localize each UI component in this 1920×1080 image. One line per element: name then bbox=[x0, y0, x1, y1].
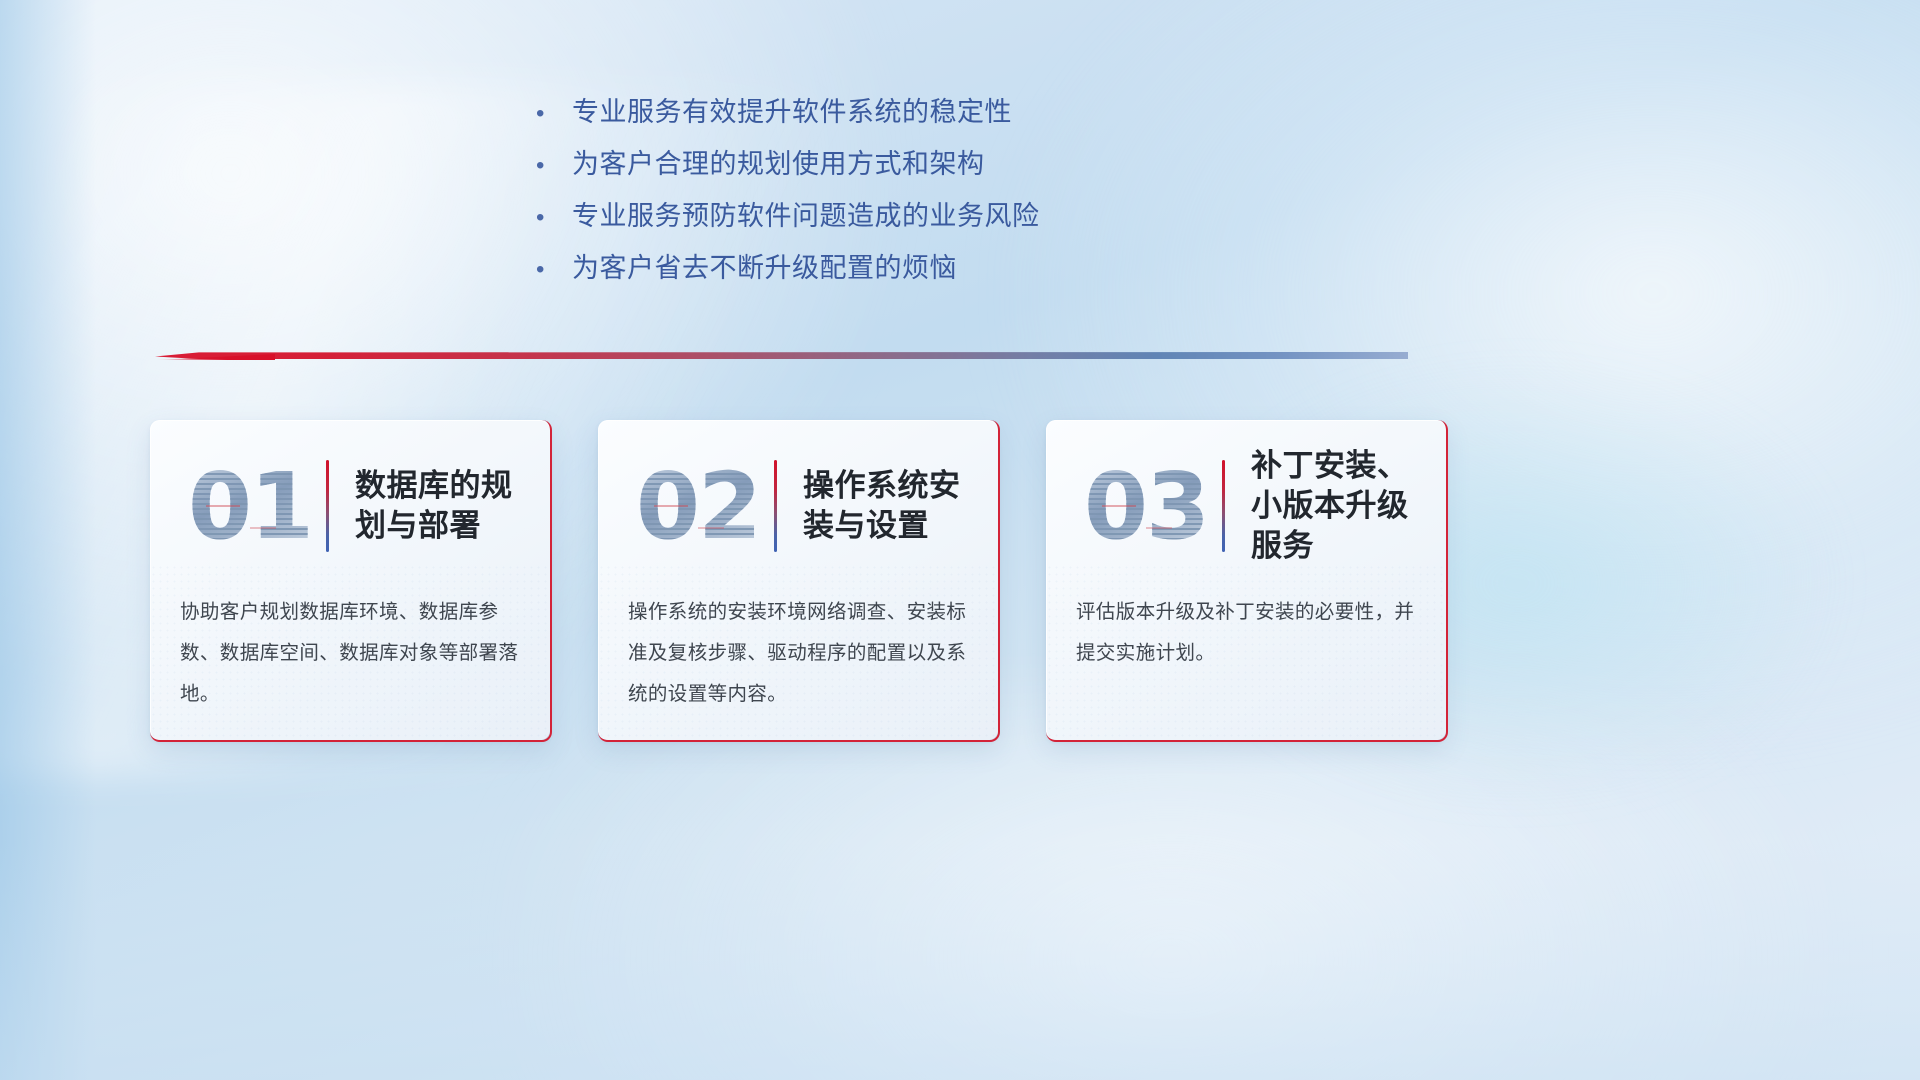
bullet-marker-icon: • bbox=[536, 258, 572, 282]
card-header: 03 补丁安装、小版本升级服务 bbox=[1046, 442, 1428, 570]
section-divider bbox=[155, 348, 1408, 362]
list-item: • 为客户合理的规划使用方式和架构 bbox=[536, 142, 1256, 194]
bullet-marker-icon: • bbox=[536, 102, 572, 126]
card-number-badge: 02 bbox=[628, 451, 768, 561]
card-01[interactable]: 01 数据库的规划与部署 协助客户规划数据库环境、数据库参数、数据库空间、数据库… bbox=[150, 420, 550, 740]
divider-gradient-bar bbox=[155, 352, 1408, 359]
bullet-text: 为客户合理的规划使用方式和架构 bbox=[572, 142, 985, 181]
bullet-marker-icon: • bbox=[536, 206, 572, 230]
number-red-tick-icon bbox=[654, 505, 688, 507]
number-red-tick-icon bbox=[250, 527, 276, 529]
card-title: 补丁安装、小版本升级服务 bbox=[1251, 446, 1428, 565]
list-item: • 为客户省去不断升级配置的烦恼 bbox=[536, 246, 1256, 298]
number-red-tick-icon bbox=[1102, 505, 1136, 507]
card-03[interactable]: 03 补丁安装、小版本升级服务 评估版本升级及补丁安装的必要性，并提交实施计划。 bbox=[1046, 420, 1446, 740]
number-red-tick-icon bbox=[206, 505, 240, 507]
card-body-text: 协助客户规划数据库环境、数据库参数、数据库空间、数据库对象等部署落地。 bbox=[180, 592, 524, 715]
bullet-marker-icon: • bbox=[536, 154, 572, 178]
card-body-text: 操作系统的安装环境网络调查、安装标准及复核步骤、驱动程序的配置以及系统的设置等内… bbox=[628, 592, 972, 715]
card-title: 数据库的规划与部署 bbox=[355, 466, 532, 545]
card-number-badge: 03 bbox=[1076, 451, 1216, 561]
number-red-tick-icon bbox=[698, 527, 724, 529]
title-accent-rule bbox=[774, 460, 777, 552]
card-header: 02 操作系统安装与设置 bbox=[598, 442, 980, 570]
title-accent-rule bbox=[1222, 460, 1225, 552]
card-title: 操作系统安装与设置 bbox=[803, 466, 980, 545]
number-red-tick-icon bbox=[1146, 527, 1172, 529]
bullet-list: • 专业服务有效提升软件系统的稳定性 • 为客户合理的规划使用方式和架构 • 专… bbox=[536, 90, 1256, 298]
card-row: 01 数据库的规划与部署 协助客户规划数据库环境、数据库参数、数据库空间、数据库… bbox=[150, 420, 1446, 740]
card-02[interactable]: 02 操作系统安装与设置 操作系统的安装环境网络调查、安装标准及复核步骤、驱动程… bbox=[598, 420, 998, 740]
bullet-text: 专业服务有效提升软件系统的稳定性 bbox=[572, 90, 1012, 129]
list-item: • 专业服务预防软件问题造成的业务风险 bbox=[536, 194, 1256, 246]
background-bottom-fade bbox=[0, 842, 1920, 1080]
card-header: 01 数据库的规划与部署 bbox=[150, 442, 532, 570]
card-number-badge: 01 bbox=[180, 451, 320, 561]
title-accent-rule bbox=[326, 460, 329, 552]
bullet-text: 为客户省去不断升级配置的烦恼 bbox=[572, 246, 957, 285]
bullet-text: 专业服务预防软件问题造成的业务风险 bbox=[572, 194, 1040, 233]
list-item: • 专业服务有效提升软件系统的稳定性 bbox=[536, 90, 1256, 142]
card-body-text: 评估版本升级及补丁安装的必要性，并提交实施计划。 bbox=[1076, 592, 1420, 674]
